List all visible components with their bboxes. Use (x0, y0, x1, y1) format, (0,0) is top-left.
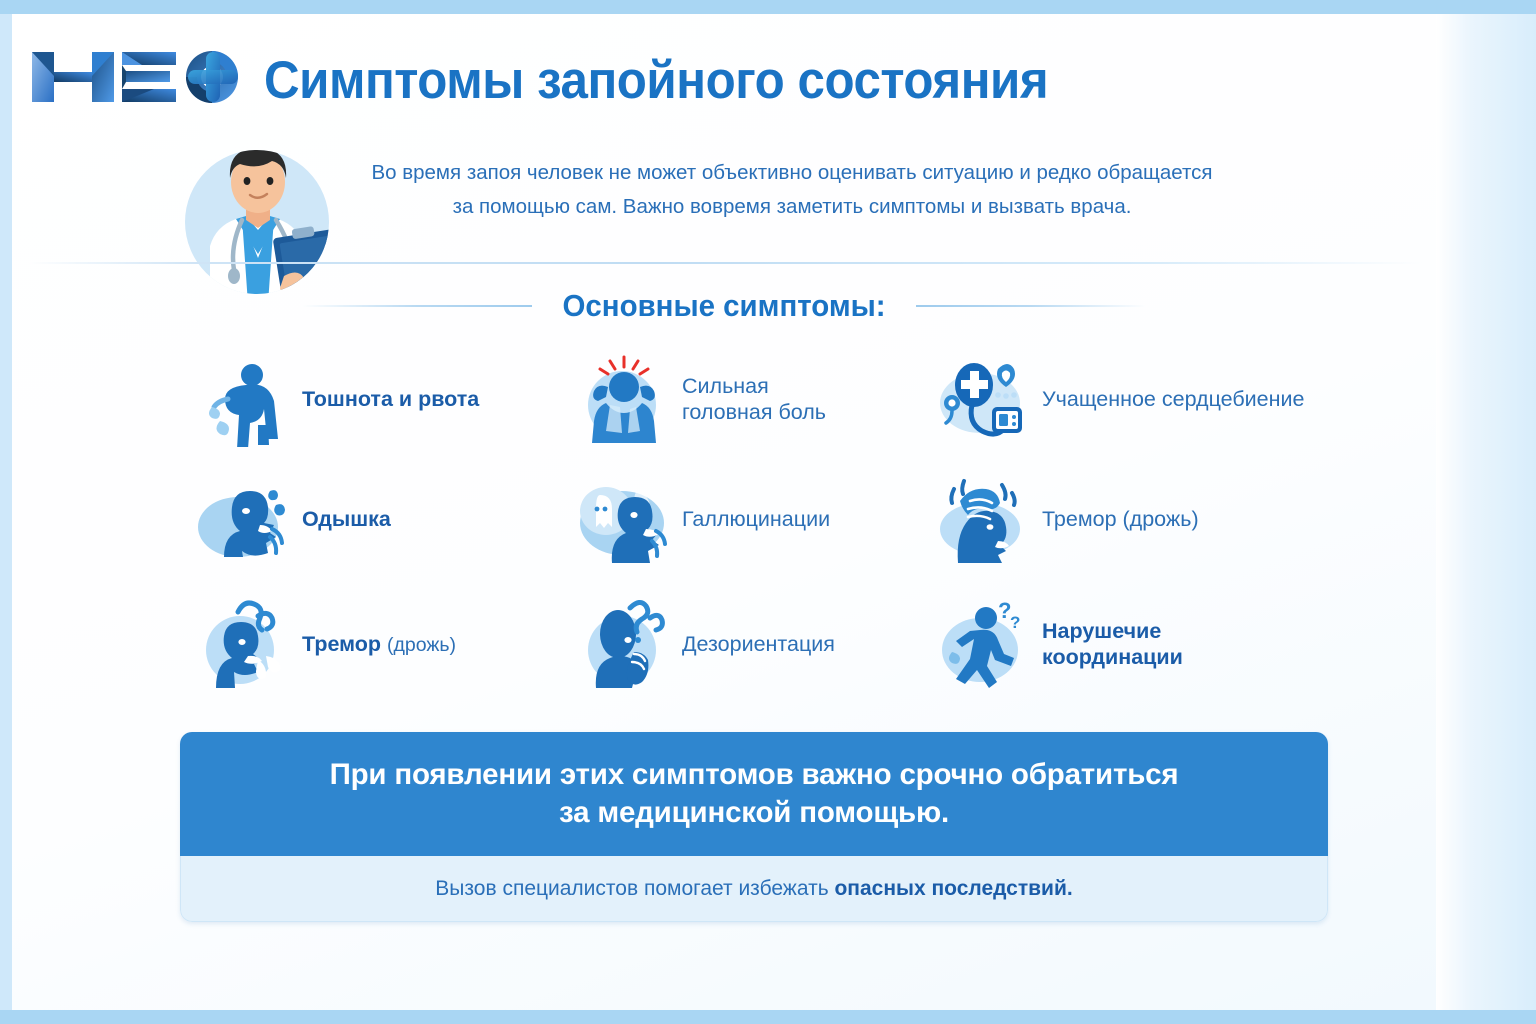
callout-box: При появлении этих симптомов важно срочн… (180, 732, 1328, 922)
section-heading: Основные симптомы: (12, 288, 1436, 324)
symptom-item: Дезориентация (576, 579, 936, 709)
bottom-decorative-bar (0, 1010, 1536, 1024)
left-decorative-bar (0, 14, 12, 1010)
symptom-label: Нарушечие координации (1042, 618, 1183, 670)
symptom-label-main: Тремор (302, 632, 381, 656)
callout-line-2: за медицинской помощью. (559, 796, 949, 830)
svg-text:?: ? (1010, 613, 1020, 632)
tremor-sweating-icon (196, 596, 292, 692)
infographic-page: Симптомы запойного состояния (0, 0, 1536, 1024)
hallucination-ghost-icon (576, 471, 672, 567)
section-title: Основные симптомы: (562, 288, 885, 324)
tremor-head-hands-icon (936, 471, 1032, 567)
callout-line-1: При появлении этих симптомов важно срочн… (330, 758, 1179, 792)
callout-primary: При появлении этих симптомов важно срочн… (180, 732, 1328, 856)
symptom-label: Галлюцинации (682, 506, 830, 532)
shortness-of-breath-icon (196, 471, 292, 567)
header: Симптомы запойного состояния (12, 14, 1436, 124)
symptom-label: Тошнота и рвота (302, 386, 479, 412)
intro-text: Во время запоя человек не может объектив… (312, 156, 1272, 225)
right-decorative-bar (1436, 14, 1536, 1010)
disorientation-thinking-icon (576, 596, 672, 692)
symptom-item: Одышка (196, 459, 576, 579)
symptom-label: Дезориентация (682, 631, 835, 657)
callout-footer-bold: опасных последствий. (834, 877, 1072, 900)
headache-person-icon (576, 351, 672, 447)
symptom-item: Галлюцинации (576, 459, 936, 579)
coordination-loss-walking-icon: ? ? (936, 596, 1032, 692)
intro-line-2: за помощью сам. Важно вовремя заметить с… (312, 190, 1272, 224)
page-title: Симптомы запойного состояния (264, 50, 1048, 111)
callout-footer: Вызов специалистов помогает избежать опа… (180, 856, 1328, 922)
symptom-item: Тошнота и рвота (196, 339, 576, 459)
symptom-item: ? ? Нарушечие координации (936, 579, 1356, 709)
heading-rule-right (916, 305, 1146, 307)
symptom-label: Тремор (дрожь) (1042, 506, 1199, 532)
symptom-label: Тремор (дрожь) (302, 631, 456, 658)
section-divider (28, 262, 1424, 264)
symptom-label: Одышка (302, 506, 391, 532)
symptom-item: Тремор (дрожь) (936, 459, 1356, 579)
brand-logo-icon (30, 46, 245, 108)
intro-block: Во время запоя человек не может объектив… (12, 134, 1436, 274)
symptom-item: Тремор (дрожь) (196, 579, 576, 709)
vomiting-person-icon (196, 351, 292, 447)
heading-rule-left (302, 305, 532, 307)
blood-pressure-monitor-icon (936, 351, 1032, 447)
symptom-grid: Тошнота и рвота (26, 339, 1426, 709)
content-canvas: Симптомы запойного состояния (12, 14, 1436, 1010)
intro-line-1: Во время запоя человек не может объектив… (371, 161, 1212, 184)
symptom-label: Учащенное сердцебиение (1042, 386, 1304, 412)
symptom-label-sub: (дрожь) (387, 634, 456, 656)
callout-footer-plain: Вызов специалистов помогает избежать (435, 877, 834, 900)
symptom-item: Учащенное сердцебиение (936, 339, 1356, 459)
top-decorative-bar (0, 0, 1536, 14)
callout-footer-text: Вызов специалистов помогает избежать опа… (435, 877, 1072, 901)
symptom-item: Сильная головная боль (576, 339, 936, 459)
symptom-label: Сильная головная боль (682, 373, 826, 425)
